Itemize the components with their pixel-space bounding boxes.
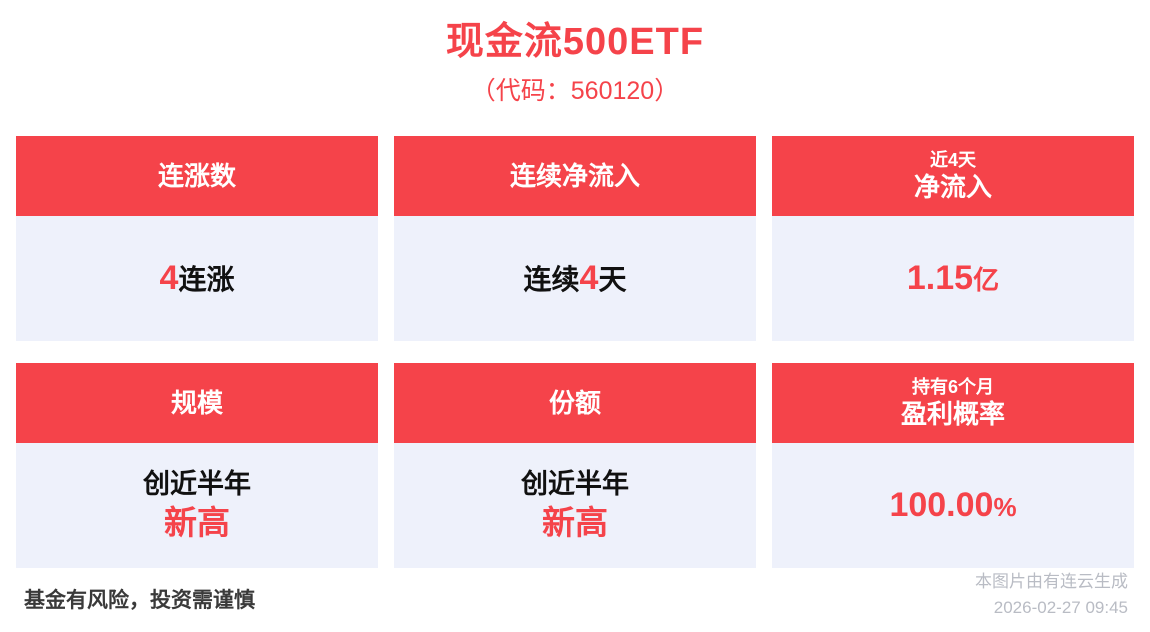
card-value-unit: % xyxy=(993,492,1016,522)
infographic-page: 现金流500ETF （代码：560120） 连涨数 4连涨 连续净流入 连续4天 xyxy=(0,0,1150,632)
card-value-suffix: 天 xyxy=(598,264,626,295)
card-value-line: 连续4天 xyxy=(524,256,627,300)
card-fund-shares: 份额 创近半年 新高 xyxy=(394,363,756,568)
card-value-line-2: 新高 xyxy=(542,502,608,545)
card-title: 连续净流入 xyxy=(510,160,640,193)
card-value-number: 4 xyxy=(580,259,599,297)
card-title: 盈利概率 xyxy=(901,398,1005,431)
card-body: 创近半年 新高 xyxy=(394,443,756,568)
disclaimer-text: 基金有风险，投资需谨慎 xyxy=(24,584,255,614)
timestamp-text: 2026-02-27 09:45 xyxy=(975,595,1128,621)
card-value-line-1: 创近半年 xyxy=(521,467,629,502)
card-title: 规模 xyxy=(171,387,223,420)
card-value-unit: 亿 xyxy=(973,265,999,295)
card-profit-probability: 持有6个月 盈利概率 100.00% xyxy=(772,363,1134,568)
card-value-text: 连涨 xyxy=(178,264,234,295)
card-value-number: 100.00 xyxy=(889,486,993,524)
card-title: 份额 xyxy=(549,387,601,420)
card-value-number: 4 xyxy=(160,259,179,297)
card-value-line-2: 新高 xyxy=(164,502,230,545)
card-header: 连续净流入 xyxy=(394,136,756,216)
card-header: 近4天 净流入 xyxy=(772,136,1134,216)
card-subtitle: 持有6个月 xyxy=(912,376,994,399)
card-value-line: 1.15亿 xyxy=(907,256,999,300)
card-value-number: 1.15 xyxy=(907,259,973,297)
metric-card-grid: 连涨数 4连涨 连续净流入 连续4天 近4天 净流入 xyxy=(16,136,1134,568)
card-header: 持有6个月 盈利概率 xyxy=(772,363,1134,443)
fund-code: （代码：560120） xyxy=(0,75,1150,108)
card-fund-size: 规模 创近半年 新高 xyxy=(16,363,378,568)
card-title: 净流入 xyxy=(914,171,992,204)
card-value-line: 4连涨 xyxy=(160,256,235,300)
card-body: 1.15亿 xyxy=(772,216,1134,341)
card-header: 份额 xyxy=(394,363,756,443)
card-body: 连续4天 xyxy=(394,216,756,341)
card-consecutive-gains: 连涨数 4连涨 xyxy=(16,136,378,341)
card-value-line-1: 创近半年 xyxy=(143,467,251,502)
card-subtitle: 近4天 xyxy=(930,149,976,172)
card-value-line: 100.00% xyxy=(889,483,1016,527)
card-consecutive-net-inflow: 连续净流入 连续4天 xyxy=(394,136,756,341)
card-title: 连涨数 xyxy=(158,160,236,193)
card-value-prefix: 连续 xyxy=(524,264,580,295)
card-recent-net-inflow: 近4天 净流入 1.15亿 xyxy=(772,136,1134,341)
source-text: 本图片由有连云生成 xyxy=(975,569,1128,595)
header: 现金流500ETF （代码：560120） xyxy=(0,0,1150,108)
card-header: 连涨数 xyxy=(16,136,378,216)
page-title: 现金流500ETF xyxy=(0,18,1150,67)
card-body: 100.00% xyxy=(772,443,1134,568)
card-header: 规模 xyxy=(16,363,378,443)
card-body: 4连涨 xyxy=(16,216,378,341)
card-body: 创近半年 新高 xyxy=(16,443,378,568)
footer-credit: 本图片由有连云生成 2026-02-27 09:45 xyxy=(975,569,1128,620)
